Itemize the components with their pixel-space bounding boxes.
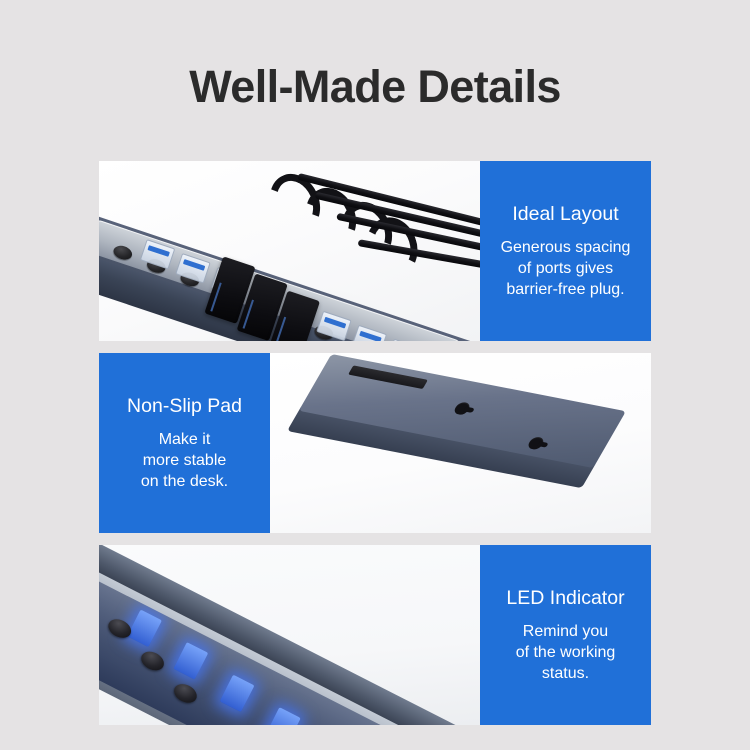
feature-body-line: Make it [141, 429, 228, 450]
led-indicator [220, 675, 255, 713]
feature-body-line: Remind you [516, 621, 616, 642]
feature-body-line: of ports gives [501, 258, 631, 279]
usb-hub-led-illustration [99, 545, 469, 725]
keyhole-slot [452, 401, 472, 415]
product-photo-non-slip-pad [270, 353, 651, 533]
page-title: Well-Made Details [0, 62, 750, 112]
feature-body-line: barrier-free plug. [501, 279, 631, 300]
feature-body: Make it more stable on the desk. [141, 429, 228, 492]
non-slip-pad-strip [348, 365, 428, 389]
feature-title: Non-Slip Pad [127, 394, 242, 418]
product-photo-led-indicator [99, 545, 480, 725]
feature-body-line: of the working [516, 642, 616, 663]
feature-panel-ideal-layout: Ideal Layout Generous spacing of ports g… [480, 161, 651, 341]
feature-panel-non-slip-pad: Non-Slip Pad Make it more stable on the … [99, 353, 270, 533]
feature-title: Ideal Layout [512, 202, 618, 226]
led-indicator [266, 707, 301, 725]
led-indicator [173, 642, 208, 680]
feature-row-non-slip-pad: Non-Slip Pad Make it more stable on the … [99, 353, 651, 533]
feature-panel-led-indicator: LED Indicator Remind you of the working … [480, 545, 651, 725]
keyhole-slot [526, 436, 546, 450]
feature-title: LED Indicator [506, 586, 624, 610]
feature-body-line: on the desk. [141, 471, 228, 492]
power-switch-icon [99, 583, 101, 609]
feature-row-led-indicator: LED Indicator Remind you of the working … [99, 545, 651, 725]
feature-body: Generous spacing of ports gives barrier-… [501, 237, 631, 300]
feature-rows: Ideal Layout Generous spacing of ports g… [99, 161, 651, 725]
product-photo-ideal-layout [99, 161, 480, 341]
led-indicator [127, 609, 162, 647]
feature-body-line: Generous spacing [501, 237, 631, 258]
product-detail-page: Well-Made Details [0, 0, 750, 750]
feature-body-line: more stable [141, 450, 228, 471]
power-switch-icon [138, 648, 167, 674]
usb-hub-underside-illustration [286, 354, 626, 490]
feature-row-ideal-layout: Ideal Layout Generous spacing of ports g… [99, 161, 651, 341]
power-switch-icon [171, 680, 200, 706]
feature-body: Remind you of the working status. [516, 621, 616, 684]
feature-body-line: status. [516, 663, 616, 684]
